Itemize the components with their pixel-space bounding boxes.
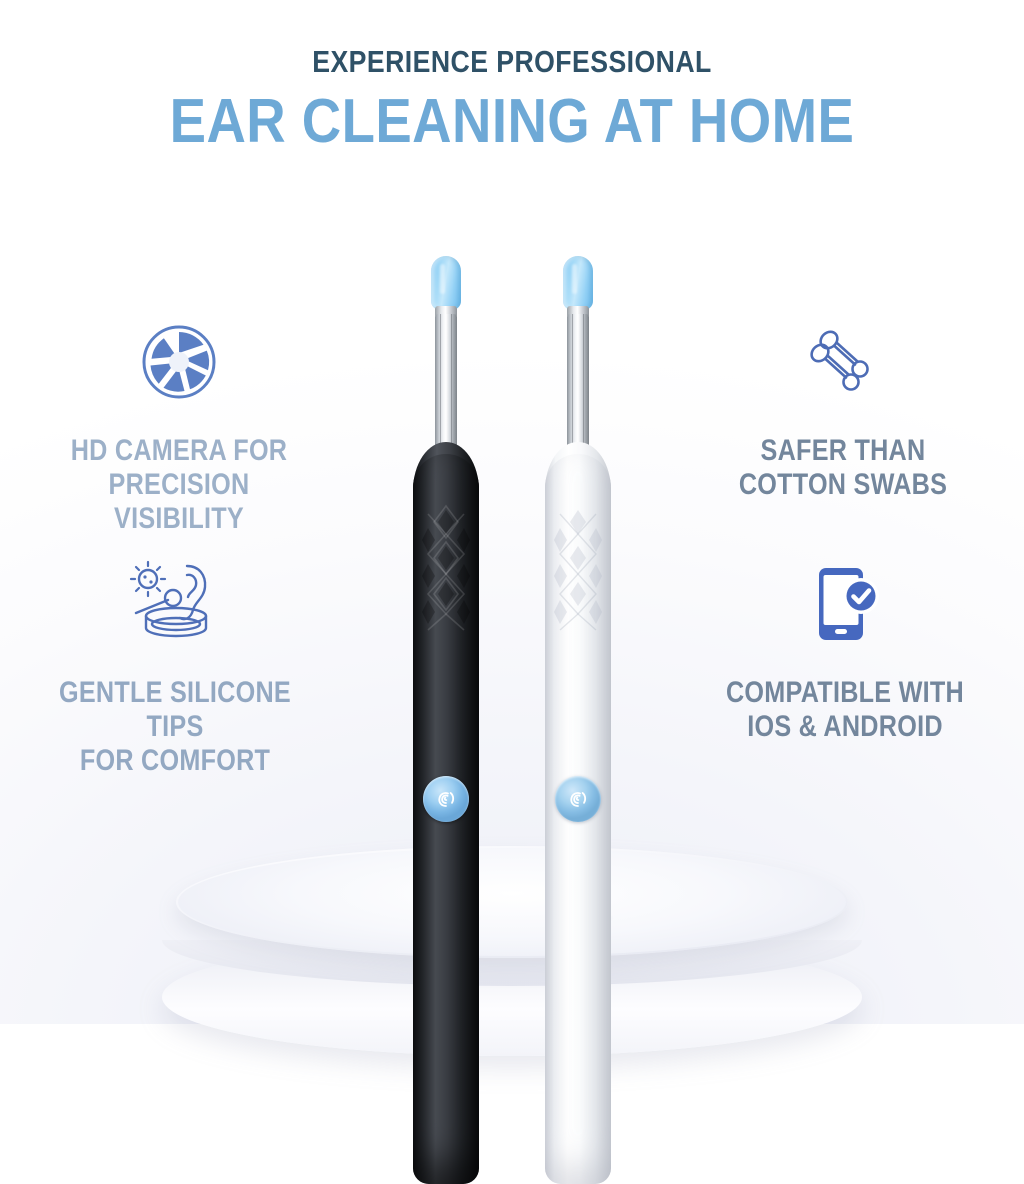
- feature-safer-than-swabs: SAFER THAN COTTON SWABS: [678, 316, 1008, 502]
- feature-caption: HD CAMERA FOR PRECISION VISIBILITY: [40, 434, 317, 536]
- feature-hd-camera: HD CAMERA FOR PRECISION VISIBILITY: [14, 316, 344, 536]
- fingerprint-swirl-icon: [555, 776, 601, 822]
- black-ear-cleaner: [413, 256, 479, 928]
- white-ear-cleaner: [545, 256, 611, 928]
- grip-pattern: [418, 504, 474, 636]
- power-button[interactable]: [555, 776, 601, 822]
- kicker-text: EXPERIENCE PROFESSIONAL: [72, 46, 953, 77]
- grip-pattern: [550, 504, 606, 636]
- fingerprint-swirl-icon: [423, 776, 469, 822]
- silicone-tip: [563, 256, 593, 310]
- podium-top-face: [178, 848, 846, 956]
- feature-silicone-tips: GENTLE SILICONE TIPS FOR COMFORT: [10, 558, 340, 778]
- feature-compatibility: COMPATIBLE WITH IOS & ANDROID: [680, 558, 1010, 744]
- camera-aperture-icon: [14, 316, 344, 408]
- infographic-canvas: EXPERIENCE PROFESSIONAL EAR CLEANING AT …: [0, 0, 1024, 1024]
- cotton-swabs-icon: [678, 316, 1008, 408]
- header-block: EXPERIENCE PROFESSIONAL EAR CLEANING AT …: [0, 46, 1024, 153]
- feature-caption: SAFER THAN COTTON SWABS: [704, 434, 981, 502]
- feature-caption: GENTLE SILICONE TIPS FOR COMFORT: [36, 676, 313, 778]
- ear-cleaning-tips-icon: [10, 558, 340, 650]
- phone-check-icon: [680, 558, 1010, 650]
- silicone-tip: [431, 256, 461, 310]
- page-title: EAR CLEANING AT HOME: [61, 91, 962, 153]
- feature-caption: COMPATIBLE WITH IOS & ANDROID: [706, 676, 983, 744]
- power-button[interactable]: [423, 776, 469, 822]
